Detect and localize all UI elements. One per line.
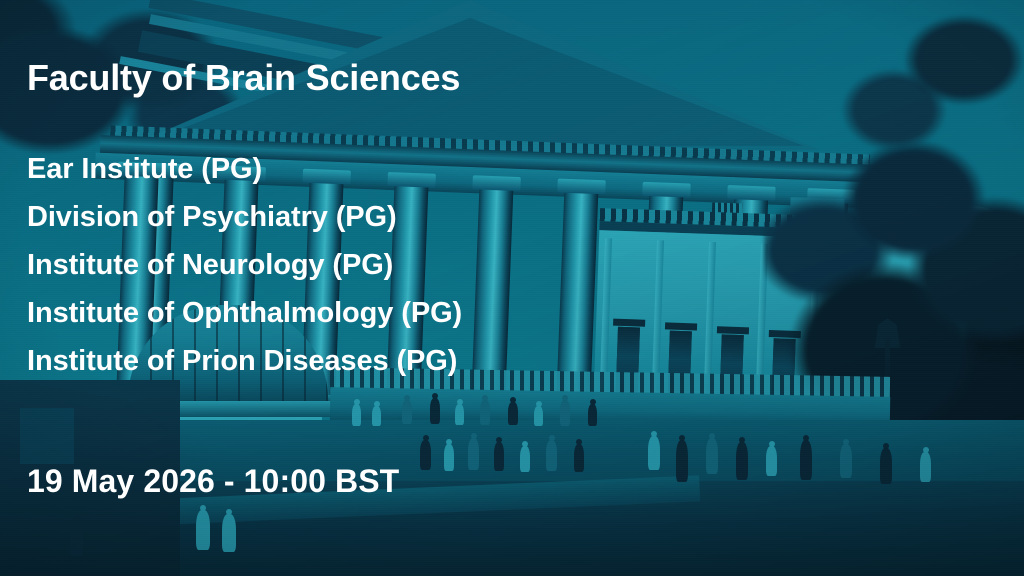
slide-content: Faculty of Brain Sciences Ear Institute … xyxy=(0,0,1024,576)
list-item: Institute of Ophthalmology (PG) xyxy=(27,289,462,337)
event-slide: Faculty of Brain Sciences Ear Institute … xyxy=(0,0,1024,576)
list-item: Division of Psychiatry (PG) xyxy=(27,193,462,241)
list-item: Institute of Neurology (PG) xyxy=(27,241,462,289)
page-title: Faculty of Brain Sciences xyxy=(27,58,460,98)
list-item: Institute of Prion Diseases (PG) xyxy=(27,337,462,385)
list-item: Ear Institute (PG) xyxy=(27,145,462,193)
department-list: Ear Institute (PG) Division of Psychiatr… xyxy=(27,145,462,385)
event-datetime: 19 May 2026 - 10:00 BST xyxy=(27,463,399,500)
